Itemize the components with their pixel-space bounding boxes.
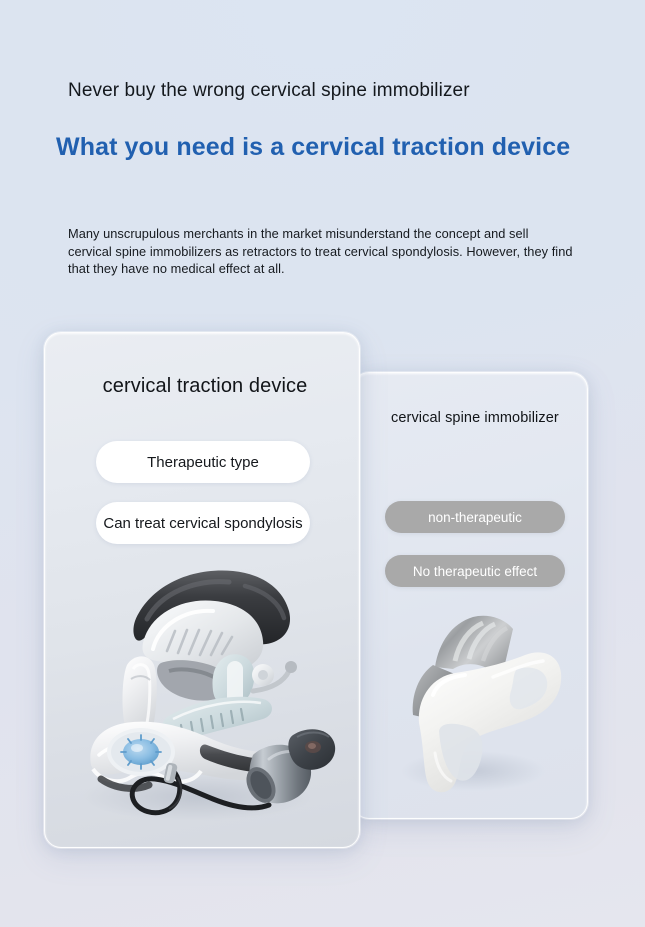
badge-can-treat-spondylosis: Can treat cervical spondylosis [96,502,310,544]
badge-non-therapeutic: non-therapeutic [385,501,565,533]
card-left-title: cervical traction device [85,375,325,398]
badge-no-therapeutic-effect-label: No therapeutic effect [413,564,537,579]
card-cervical-traction-device[interactable]: cervical traction device Therapeutic typ… [44,332,360,848]
comparison-cards: cervical spine immobilizer non-therapeut… [0,0,645,927]
cervical-traction-device-photo [57,559,349,829]
badge-can-treat-spondylosis-label: Can treat cervical spondylosis [96,515,310,532]
badge-therapeutic-type: Therapeutic type [96,441,310,483]
badge-non-therapeutic-label: non-therapeutic [428,510,522,525]
card-cervical-spine-immobilizer[interactable]: cervical spine immobilizer non-therapeut… [352,372,588,819]
cervical-spine-immobilizer-photo [373,603,573,803]
card-right-title: cervical spine immobilizer [391,408,561,429]
badge-no-therapeutic-effect: No therapeutic effect [385,555,565,587]
badge-therapeutic-type-label: Therapeutic type [147,454,259,471]
